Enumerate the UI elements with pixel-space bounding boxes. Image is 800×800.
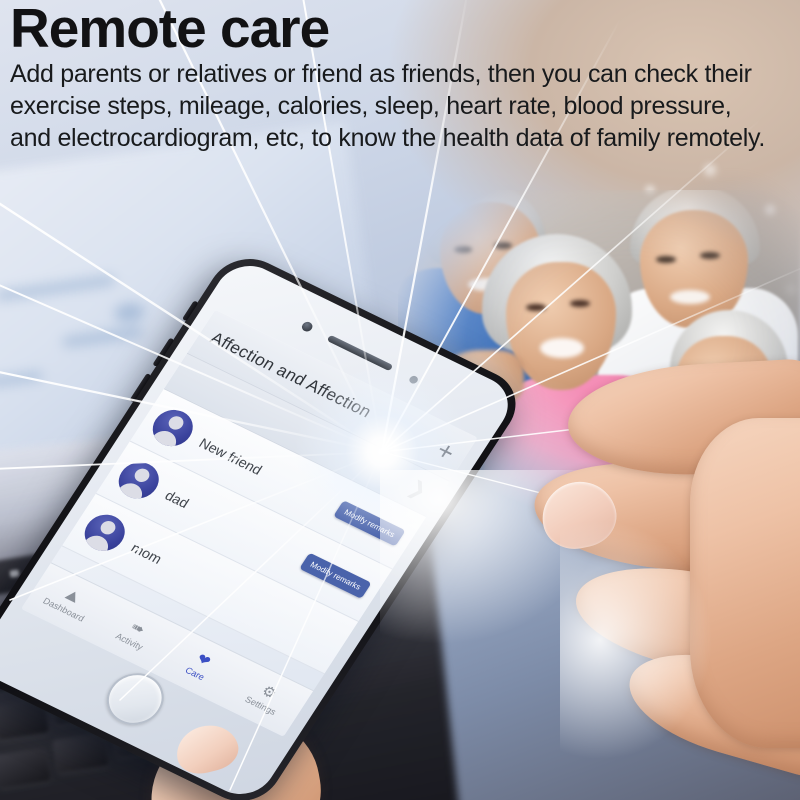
header-block: Remote care Add parents or relatives or …: [0, 0, 800, 154]
smartphone: Affection and Affection + ❯ New friend M…: [60, 270, 620, 800]
chevron-right-icon[interactable]: ❯: [403, 475, 432, 503]
running-icon: ➠: [128, 619, 148, 637]
home-icon: ⛰: [62, 587, 82, 605]
heart-icon: ❤: [194, 651, 214, 669]
hand-pointing: [540, 378, 800, 800]
person-avatar-icon: [146, 403, 201, 452]
front-camera-icon: [300, 320, 314, 333]
page-heading: Remote care: [10, 2, 792, 56]
gear-icon: ⚙: [259, 683, 279, 702]
promo-banner: Affection and Affection + ❯ New friend M…: [0, 0, 800, 800]
proximity-sensor-icon: [408, 375, 420, 385]
earpiece-speaker: [327, 335, 394, 372]
phone-bezel: Affection and Affection + ❯ New friend M…: [0, 255, 520, 800]
modify-remarks-button[interactable]: Modify remarks: [333, 500, 405, 546]
person-avatar-icon: [77, 508, 132, 557]
page-description: Add parents or relatives or friend as fr…: [10, 58, 770, 154]
modify-remarks-button[interactable]: Modify remarks: [299, 553, 371, 599]
phone-screen: Affection and Affection + ❯ New friend M…: [21, 310, 478, 737]
person-avatar-icon: [112, 456, 167, 505]
